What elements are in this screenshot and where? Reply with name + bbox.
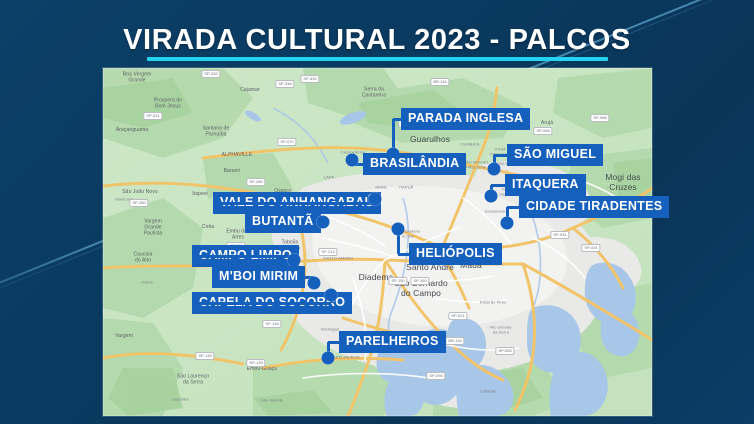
page-title-container: VIRADA CULTURAL 2023 - PALCOS <box>0 26 754 55</box>
road-shield: SP-070 <box>277 138 296 146</box>
map-place-label: Ibiúna <box>141 281 153 286</box>
stage-label-cidade-tiradentes[interactable]: CIDADE TIRADENTES <box>519 196 669 218</box>
map-place-label: CUMBICA <box>460 143 479 148</box>
road-shield: SP-031 <box>581 244 600 252</box>
road-shield: SP-139 <box>195 352 214 360</box>
stage-leader-line <box>192 255 294 258</box>
road-shield: BR-116 <box>445 337 464 345</box>
map-place-label: São Vicente <box>261 399 284 404</box>
map-place-label: ALPHAVILLE <box>222 153 253 159</box>
stage-label-butant[interactable]: BUTANTÃ <box>245 211 321 233</box>
map-place-label: Embu-Guaçu <box>247 367 277 373</box>
road-shield: SP-214 <box>318 248 337 256</box>
map-place-label: Rio Grande da Serra <box>490 325 511 334</box>
stage-leader-line <box>328 341 339 344</box>
road-shield: SP-095 <box>426 372 445 380</box>
map-place-label: São Lourenço da Serra <box>177 374 209 386</box>
road-shield: SP-088 <box>590 114 609 122</box>
stage-label-m-boi-mirim[interactable]: M'BOI MIRIM <box>212 266 305 288</box>
stage-marker-dot[interactable] <box>346 154 359 167</box>
map-place-label: Arujá <box>541 121 553 127</box>
stage-marker-dot[interactable] <box>488 163 501 176</box>
road-shield: SP-055 <box>495 347 514 355</box>
road-shield: SP-139 <box>246 359 265 367</box>
road-shield: SP-066 <box>533 127 552 135</box>
map-place-label: Interlagos <box>321 328 340 333</box>
stage-marker-dot[interactable] <box>308 277 321 290</box>
road-shield: SP-031 <box>550 231 569 239</box>
map-place-label: Juquitiba <box>172 398 189 403</box>
road-shield: SP-021 <box>448 312 467 320</box>
stage-marker-dot[interactable] <box>485 190 498 203</box>
map-place-label: Guarulhos <box>410 135 450 145</box>
map-place-label: Cotiabão <box>480 390 497 395</box>
stage-marker-dot[interactable] <box>501 217 514 230</box>
map-place-label: Serra da Cantareira <box>362 87 386 99</box>
map-place-label: Santo André <box>406 263 454 273</box>
map-place-label: Santana de Parnaíba <box>203 126 230 138</box>
road-shield: SP-332 <box>201 70 220 78</box>
map-place-label: Vargem <box>115 334 133 340</box>
road-shield: SP-280 <box>246 178 265 186</box>
stage-label-parada-inglesa[interactable]: PARADA INGLESA <box>401 108 530 130</box>
stage-marker-dot[interactable] <box>392 223 405 236</box>
map-place-label: São João Novo <box>122 190 158 196</box>
road-shield: SP-021 <box>143 112 162 120</box>
stage-marker-dot[interactable] <box>369 193 382 206</box>
stage-label-parelheiros[interactable]: PARELHEIROS <box>339 331 446 353</box>
map-place-label: Prospera do Bom Jesus <box>154 98 182 110</box>
stage-leader-line <box>507 206 519 209</box>
stage-label-brasil-ndia[interactable]: BRASILÂNDIA <box>363 153 466 175</box>
map-place-label: Cajamar <box>240 88 260 94</box>
stage-marker-dot[interactable] <box>317 216 330 229</box>
screenshot-root: VIRADA CULTURAL 2023 - PALCOS <box>0 0 754 424</box>
map-place-label: SANTO AMARO <box>323 257 353 262</box>
map-place-label: Guaianases <box>485 210 507 215</box>
stage-label-s-o-miguel[interactable]: SÃO MIGUEL <box>507 144 603 166</box>
map-place-label: Cotia <box>202 225 214 231</box>
page-title: VIRADA CULTURAL 2023 - PALCOS <box>0 26 754 55</box>
stage-label-itaquera[interactable]: ITAQUERA <box>505 174 586 196</box>
map-place-label: BRÁS <box>375 186 386 191</box>
map-place-label: PARELHEIROS <box>330 356 359 361</box>
map-place-label: Araçariguama <box>116 128 148 134</box>
map-place-label: Ribeirão Pires <box>480 301 507 306</box>
map-place-label: Mogi das Cruzes <box>605 173 640 193</box>
stage-marker-dot[interactable] <box>325 289 338 302</box>
stage-label-heli-polis[interactable]: HELIÓPOLIS <box>409 243 502 265</box>
map-place-label: SÃO MIGUEL PAULISTA <box>463 160 489 169</box>
stage-leader-line <box>494 154 507 157</box>
map-place-label: Barueri <box>224 169 241 175</box>
road-shield: SP-280 <box>129 199 148 207</box>
map-place-label: Vargem Grande Paulista <box>144 219 163 236</box>
stage-leader-line <box>491 184 505 187</box>
stage-leader-line <box>398 253 409 256</box>
stage-marker-dot[interactable] <box>322 352 335 365</box>
road-shield: SP-160 <box>410 277 429 285</box>
map-place-label: Caucaia do Alto <box>133 252 152 264</box>
map-basemap <box>103 68 652 416</box>
stage-leader-line <box>192 302 331 305</box>
map-container[interactable]: São PauloGuarulhosSanto AndréSão Bernard… <box>103 68 652 416</box>
road-shield: SP-148 <box>262 320 281 328</box>
map-place-label: ITAPUÃ <box>399 186 414 191</box>
road-shield: BR-116 <box>430 78 449 86</box>
map-place-label: Itapevi <box>192 192 207 198</box>
stage-marker-dot[interactable] <box>288 254 301 267</box>
road-shield: SP-348 <box>275 80 294 88</box>
road-shield: SP-150 <box>388 277 407 285</box>
stage-leader-line <box>213 202 375 205</box>
road-shield: SP-330 <box>300 75 319 83</box>
title-underline <box>147 57 608 61</box>
map-place-label: Boa Vergem Grande <box>123 72 152 84</box>
map-place-label: LAPA <box>324 176 334 181</box>
